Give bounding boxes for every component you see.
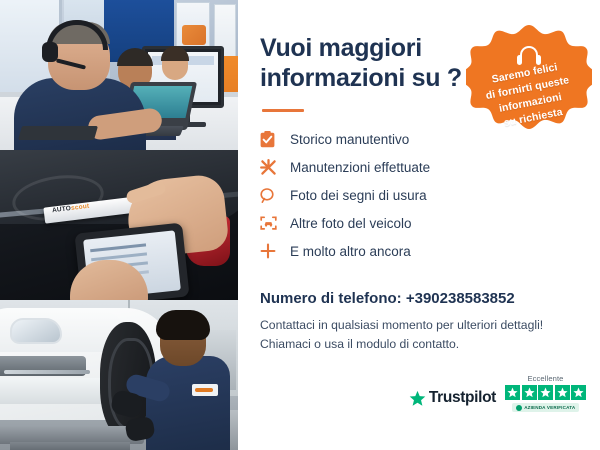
trustpilot-rating-label: Eccellente xyxy=(527,374,563,383)
callout-badge: Saremo felici di fornirti queste informa… xyxy=(466,22,592,148)
verified-check-icon xyxy=(516,405,522,411)
tools-cross-icon xyxy=(260,157,284,177)
trustpilot-stars xyxy=(505,385,586,400)
title-divider xyxy=(262,109,304,112)
photo-column: AUTOscout xyxy=(0,0,238,450)
uniform-logo-patch xyxy=(192,384,218,396)
verified-label: AZIENDA VERIFICATA xyxy=(524,405,575,410)
vehicle-lift-base xyxy=(10,442,130,450)
list-item: Foto dei segni di usura xyxy=(260,182,578,208)
content-panel: Vuoi maggiori informazioni su ? Saremo f… xyxy=(238,0,600,450)
trustpilot-star-icon xyxy=(409,390,426,407)
magnifier-icon xyxy=(260,185,284,205)
scan-vehicle-icon xyxy=(260,213,284,233)
contact-line-one: Contattaci in qualsiasi momento per ulte… xyxy=(260,316,578,335)
list-item-label: E molto altro ancora xyxy=(290,244,411,259)
car-headlight xyxy=(10,318,62,344)
trustpilot-star-box xyxy=(555,385,570,400)
verified-company-badge: AZIENDA VERIFICATA xyxy=(512,403,580,412)
headline-line-one: Vuoi maggiori xyxy=(260,34,422,62)
mechanic-hair xyxy=(156,310,210,340)
list-item: Altre foto del veicolo xyxy=(260,210,578,236)
trustpilot-logo: Trustpilot xyxy=(409,389,496,412)
trustpilot-star-box xyxy=(538,385,553,400)
mechanic-body xyxy=(146,356,230,450)
contact-line-two: Chiamaci o usa il modulo di contatto. xyxy=(260,335,578,354)
list-item-label: Manutenzioni effettuate xyxy=(290,160,430,175)
list-item: E molto altro ancora xyxy=(260,238,578,264)
trustpilot-star-box xyxy=(505,385,520,400)
headline-line-two: informazioni su ? xyxy=(260,64,462,92)
phone-block: Numero di telefono: +390238583852 xyxy=(260,290,578,307)
trustpilot-widget[interactable]: Trustpilot Eccellente AZIENDA VERIFICATA xyxy=(409,374,586,412)
page-title: Vuoi maggiori informazioni su ? xyxy=(260,34,475,93)
contact-instructions: Contattaci in qualsiasi momento per ulte… xyxy=(260,316,578,354)
plus-icon xyxy=(260,241,284,261)
list-item-label: Foto dei segni di usura xyxy=(290,188,427,203)
phone-number[interactable]: +390238583852 xyxy=(406,290,515,307)
trustpilot-rating-group: Eccellente AZIENDA VERIFICATA xyxy=(505,374,586,412)
clipboard-check-icon xyxy=(260,129,284,149)
list-item-label: Storico manutentivo xyxy=(290,132,409,147)
trustpilot-star-box xyxy=(571,385,586,400)
trustpilot-star-box xyxy=(522,385,537,400)
mechanic-wheel-inspection-photo xyxy=(0,300,238,450)
desk-keyboard xyxy=(18,126,98,140)
contact-info-banner: AUTOscout xyxy=(0,0,600,450)
phone-label: Numero di telefono: xyxy=(260,290,402,307)
list-item-label: Altre foto del veicolo xyxy=(290,216,412,231)
list-item: Manutenzioni effettuate xyxy=(260,154,578,180)
chrome-trim xyxy=(4,370,90,374)
trustpilot-wordmark: Trustpilot xyxy=(429,389,496,407)
car-damage-inspection-photo: AUTOscout xyxy=(0,150,238,300)
call-center-agents-photo xyxy=(0,0,238,150)
